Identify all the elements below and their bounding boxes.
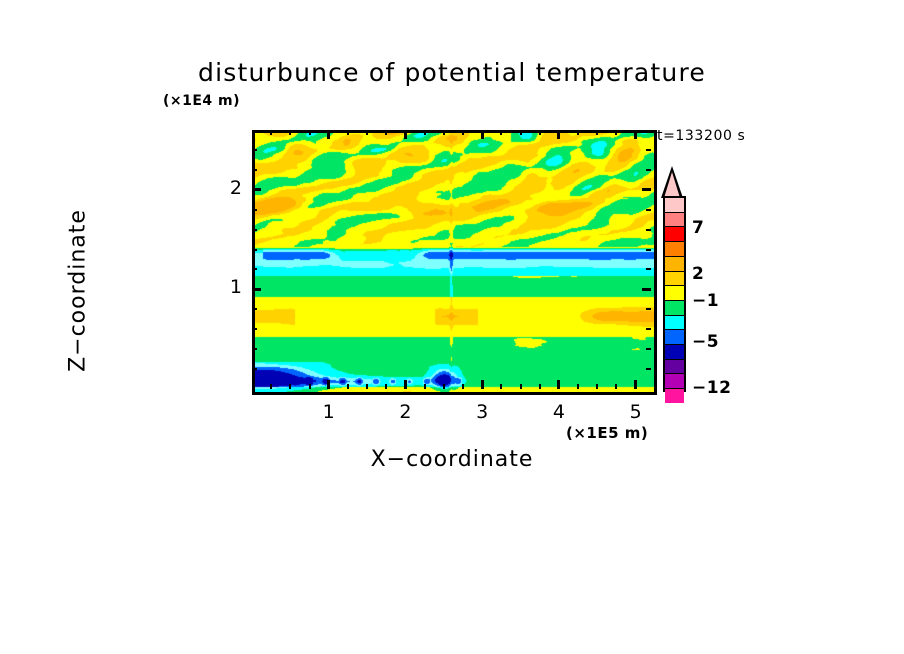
x-tick-minor: [577, 384, 579, 389]
z-axis-unit-label: (×1E4 m): [163, 93, 240, 109]
x-tick-minor: [347, 384, 349, 389]
x-tick-top: [500, 130, 502, 135]
colorbar-band: [665, 286, 684, 301]
colorbar-band: [665, 227, 684, 242]
x-tick-minor: [462, 384, 464, 389]
x-tick-top: [424, 130, 426, 135]
y-tick-label: 1: [202, 276, 242, 298]
colorbar-band: [665, 301, 684, 316]
y-tick-right: [646, 149, 651, 151]
colorbar-band: [665, 360, 684, 375]
x-tick-label: 5: [616, 401, 656, 423]
y-tick-right: [646, 268, 651, 270]
x-tick-top: [270, 130, 272, 135]
y-tick-label: 2: [202, 177, 242, 199]
x-axis-unit-label: (×1E5 m): [566, 424, 648, 442]
colorbar-arrow-tip: [661, 166, 683, 198]
x-tick-top: [481, 130, 484, 139]
y-tick-right: [646, 169, 651, 171]
x-tick-top: [577, 130, 579, 135]
y-tick-right: [646, 348, 651, 350]
x-tick-top: [309, 130, 311, 135]
x-tick-top: [347, 130, 349, 135]
y-tick-right: [646, 229, 651, 231]
colorbar-tick-label: 7: [692, 218, 704, 238]
x-axis-title: X−coordinate: [252, 447, 652, 472]
x-tick-minor: [557, 380, 560, 389]
y-tick-minor: [252, 288, 261, 291]
x-tick-minor: [615, 384, 617, 389]
y-tick-right: [646, 249, 651, 251]
x-tick-minor: [539, 384, 541, 389]
colorbar-tick-label: −1: [692, 291, 719, 311]
x-tick-top: [539, 130, 541, 135]
x-tick-minor: [424, 384, 426, 389]
x-tick-top: [462, 130, 464, 135]
x-tick-top: [404, 130, 407, 139]
x-tick-top: [385, 130, 387, 135]
colorbar-arrow-fill: [664, 172, 680, 198]
y-tick-minor: [252, 308, 257, 310]
colorbar-band: [665, 316, 684, 331]
colorbar-band: [665, 198, 684, 213]
x-tick-minor: [634, 380, 637, 389]
contour-plot-area: [252, 130, 657, 395]
y-tick-minor: [252, 348, 257, 350]
y-tick-right: [646, 368, 651, 370]
y-tick-minor: [252, 328, 257, 330]
y-tick-minor: [252, 149, 257, 151]
x-tick-minor: [404, 380, 407, 389]
x-tick-top: [366, 130, 368, 135]
x-tick-minor: [327, 380, 330, 389]
x-tick-minor: [596, 384, 598, 389]
x-tick-top: [557, 130, 560, 139]
y-tick-right: [646, 308, 651, 310]
colorbar: [663, 196, 686, 392]
colorbar-tick-label: −5: [692, 332, 719, 352]
y-tick-minor: [252, 188, 261, 191]
x-tick-top: [289, 130, 291, 135]
y-tick-right: [646, 209, 651, 211]
y-tick-right: [646, 328, 651, 330]
y-tick-minor: [252, 368, 257, 370]
x-tick-minor: [366, 384, 368, 389]
x-tick-top: [596, 130, 598, 135]
y-tick-minor: [252, 229, 257, 231]
colorbar-band: [665, 257, 684, 272]
x-tick-top: [443, 130, 445, 135]
x-tick-label: 4: [539, 401, 579, 423]
x-tick-minor: [481, 380, 484, 389]
page-title: disturbunce of potential temperature: [0, 58, 904, 87]
x-tick-label: 1: [309, 401, 349, 423]
x-tick-minor: [289, 384, 291, 389]
x-tick-label: 3: [462, 401, 502, 423]
x-tick-top: [634, 130, 637, 139]
time-label: t=133200 s: [657, 128, 745, 144]
colorbar-band: [665, 242, 684, 257]
colorbar-band: [665, 330, 684, 345]
y-tick-minor: [252, 209, 257, 211]
y-tick-minor: [252, 268, 257, 270]
colorbar-tick-label: 2: [692, 264, 704, 284]
y-tick-right: [642, 288, 651, 291]
x-tick-minor: [385, 384, 387, 389]
colorbar-band: [665, 374, 684, 389]
y-tick-right: [642, 188, 651, 191]
x-tick-minor: [443, 384, 445, 389]
y-axis-title: Z−coordinate: [66, 161, 91, 421]
y-tick-minor: [252, 169, 257, 171]
x-tick-minor: [270, 384, 272, 389]
colorbar-band: [665, 213, 684, 228]
contour-field: [255, 133, 654, 392]
y-tick-minor: [252, 249, 257, 251]
x-tick-minor: [309, 384, 311, 389]
figure-canvas: disturbunce of potential temperature (×1…: [0, 0, 904, 654]
x-tick-top: [615, 130, 617, 135]
colorbar-band: [665, 389, 684, 403]
x-tick-label: 2: [385, 401, 425, 423]
x-tick-top: [520, 130, 522, 135]
colorbar-tick-label: −12: [692, 378, 731, 398]
colorbar-band: [665, 345, 684, 360]
x-tick-minor: [520, 384, 522, 389]
colorbar-band: [665, 272, 684, 287]
x-tick-minor: [500, 384, 502, 389]
x-tick-top: [327, 130, 330, 139]
